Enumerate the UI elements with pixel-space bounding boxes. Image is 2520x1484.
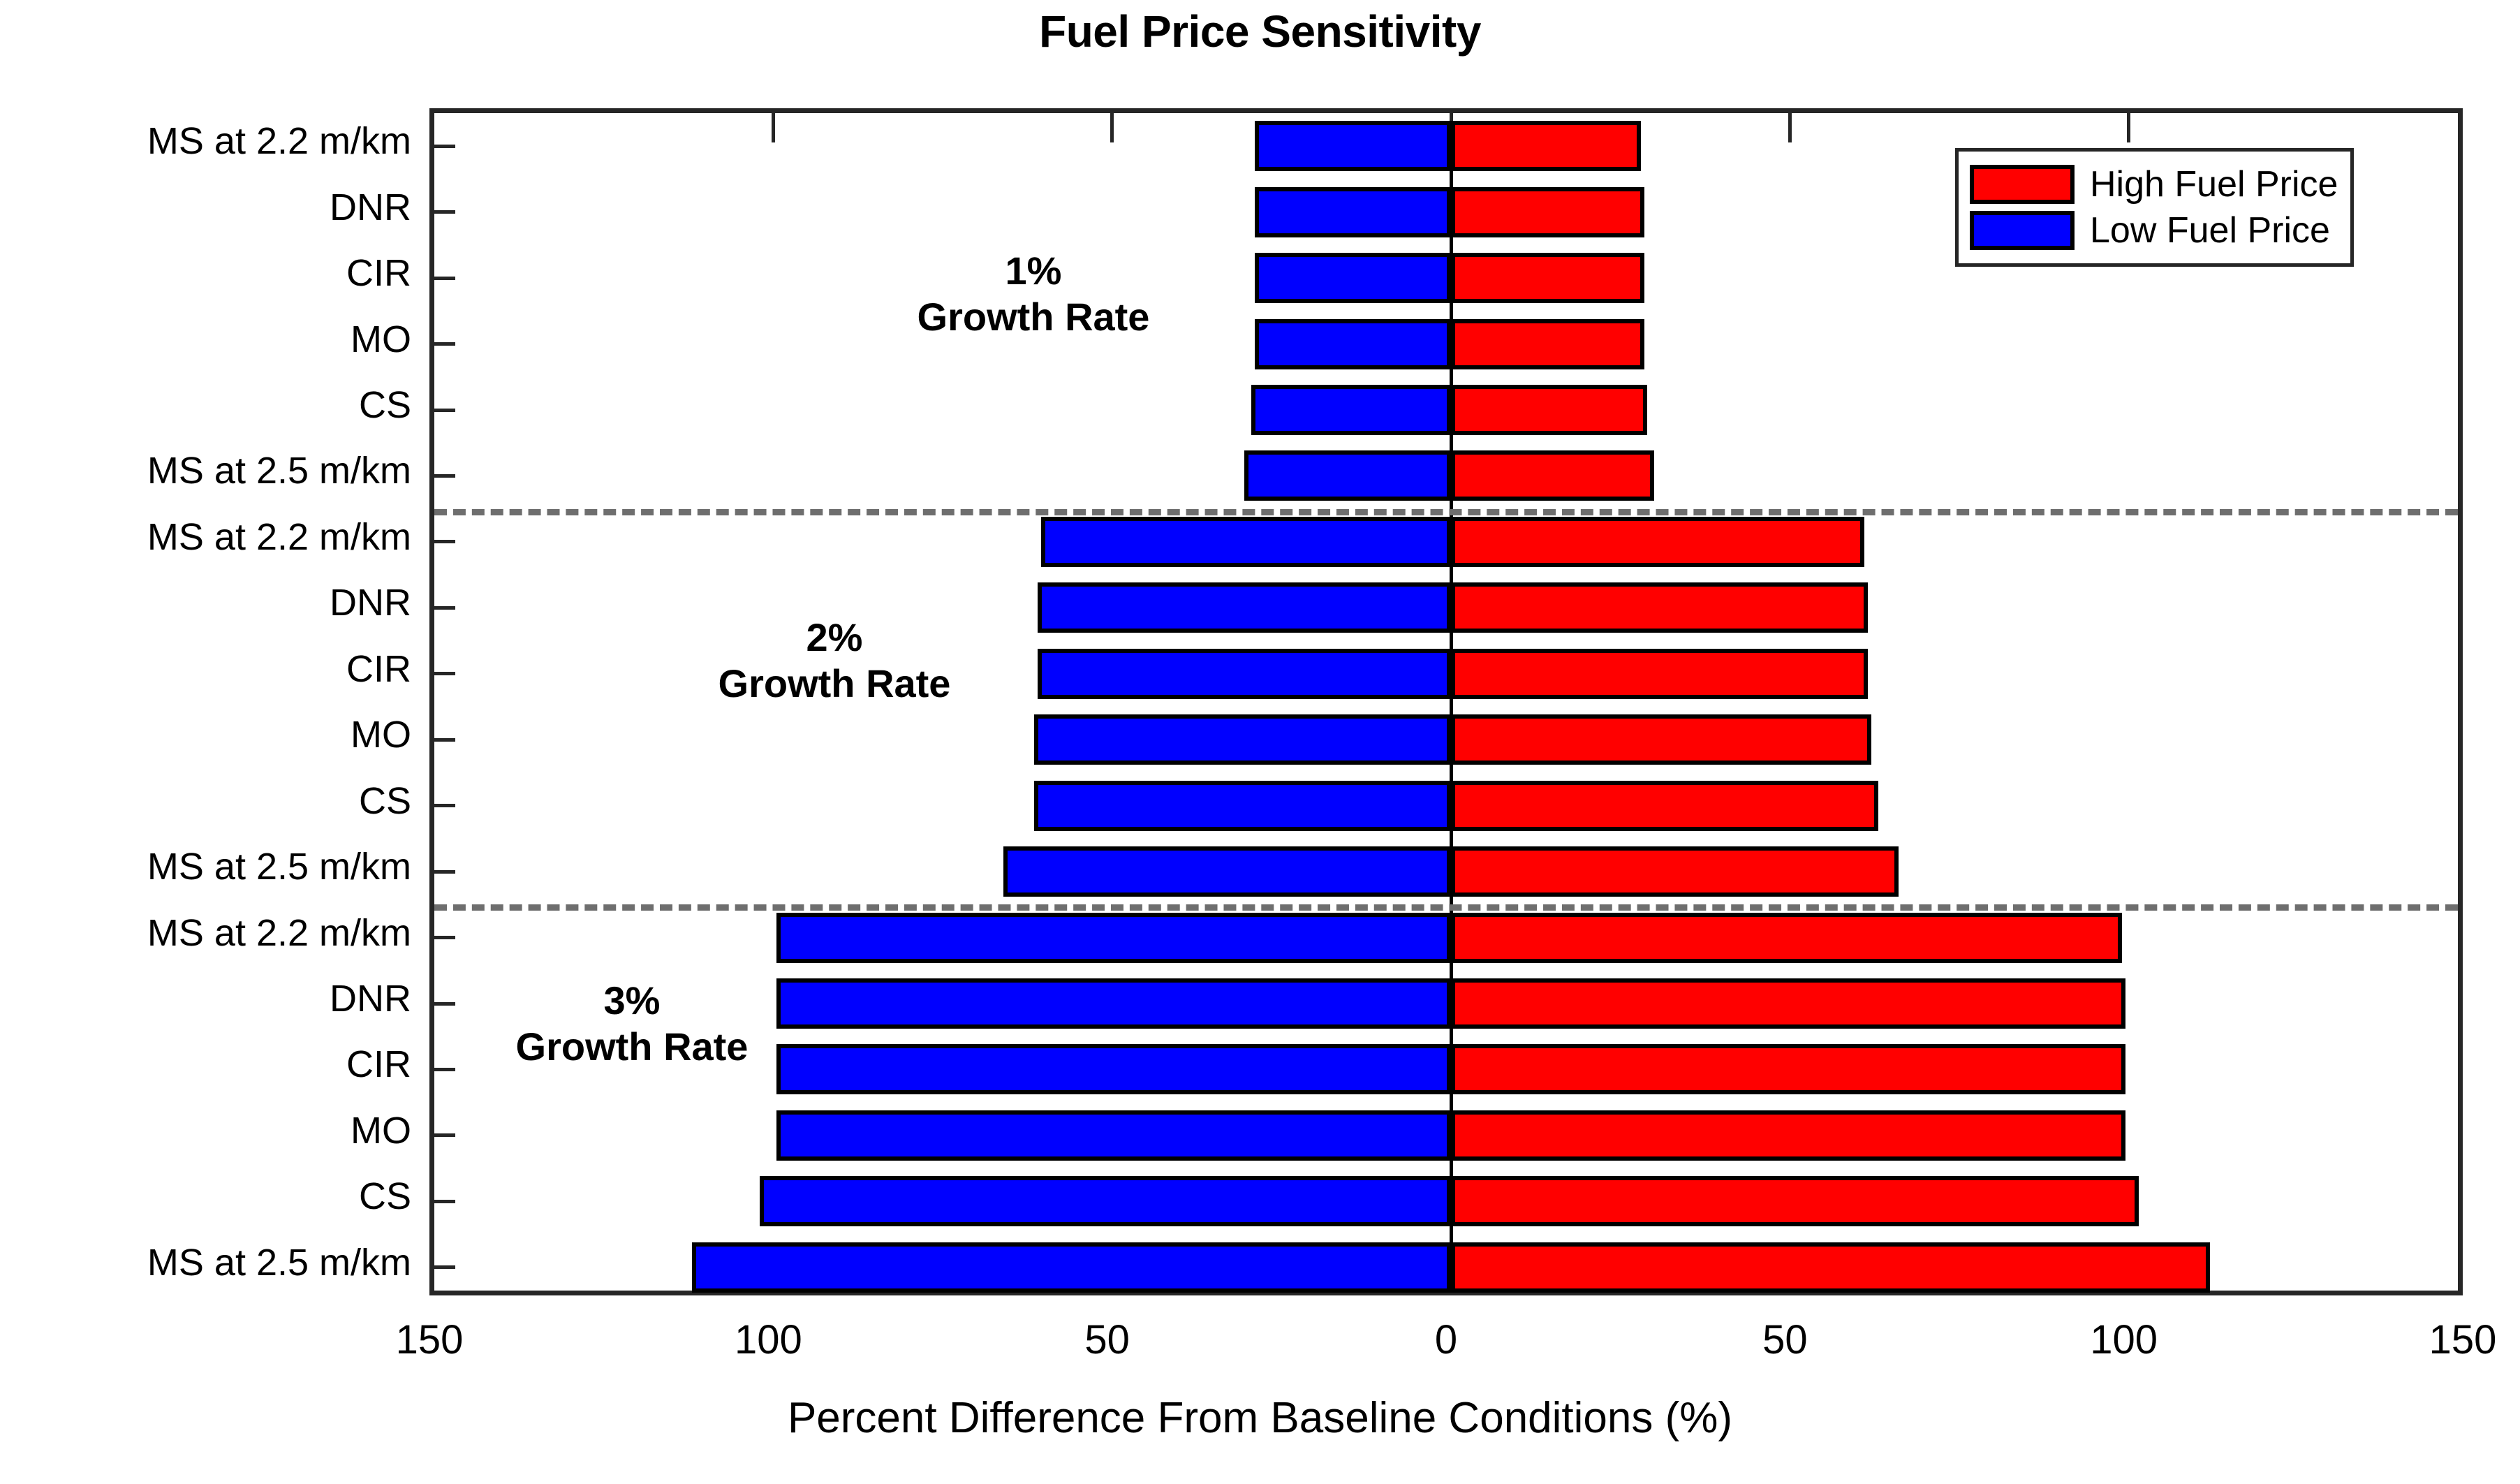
x-axis-title: Percent Difference From Baseline Conditi… [0, 1393, 2520, 1443]
legend-swatch-low-fuel-price [1970, 211, 2075, 250]
group-annotation-rate: 3% [516, 978, 749, 1024]
legend-label-high-fuel-price: High Fuel Price [2090, 163, 2338, 205]
x-axis-tick-label: 100 [2090, 1316, 2158, 1363]
y-axis-label: CIR [0, 1043, 411, 1086]
x-axis-tick-label: 0 [1435, 1316, 1457, 1363]
y-axis-label: CIR [0, 251, 411, 295]
group-annotation: 1%Growth Rate [918, 248, 1150, 340]
x-axis-tick-label: 150 [396, 1316, 464, 1363]
group-annotation: 3%Growth Rate [516, 978, 749, 1070]
x-axis-tick-label: 150 [2429, 1316, 2497, 1363]
y-axis-label: CS [0, 1175, 411, 1218]
y-axis-label: MS at 2.2 m/km [0, 911, 411, 955]
group-annotation-rate: 2% [719, 615, 951, 661]
group-annotation-caption: Growth Rate [719, 661, 951, 707]
chart-root: Fuel Price Sensitivity MS at 2.2 m/kmDNR… [0, 0, 2520, 1484]
legend-item-low-fuel-price: Low Fuel Price [1970, 207, 2338, 254]
y-axis-label: DNR [0, 581, 411, 624]
y-axis-label: CIR [0, 647, 411, 691]
y-axis-label: MS at 2.5 m/km [0, 845, 411, 888]
y-axis-label: MS at 2.2 m/km [0, 515, 411, 559]
y-axis-label: MS at 2.2 m/km [0, 119, 411, 163]
y-axis-label: MO [0, 1109, 411, 1152]
x-axis-tick-label: 100 [735, 1316, 802, 1363]
y-axis-label: MS at 2.5 m/km [0, 449, 411, 492]
group-annotation-rate: 1% [918, 248, 1150, 294]
group-annotation-caption: Growth Rate [918, 294, 1150, 340]
legend: High Fuel Price Low Fuel Price [1955, 148, 2354, 267]
legend-item-high-fuel-price: High Fuel Price [1970, 161, 2338, 207]
y-axis-label: DNR [0, 186, 411, 229]
group-annotation-caption: Growth Rate [516, 1024, 749, 1070]
y-axis-label: MO [0, 318, 411, 361]
y-axis-label: CS [0, 383, 411, 427]
group-annotation: 2%Growth Rate [719, 615, 951, 707]
y-axis-label: DNR [0, 977, 411, 1020]
legend-label-low-fuel-price: Low Fuel Price [2090, 210, 2330, 251]
x-axis-tick-label: 50 [1762, 1316, 1808, 1363]
y-axis-label: MO [0, 713, 411, 756]
legend-swatch-high-fuel-price [1970, 165, 2075, 204]
y-axis-label: MS at 2.5 m/km [0, 1241, 411, 1284]
x-axis-tick-label: 50 [1084, 1316, 1130, 1363]
y-axis-label: CS [0, 779, 411, 823]
